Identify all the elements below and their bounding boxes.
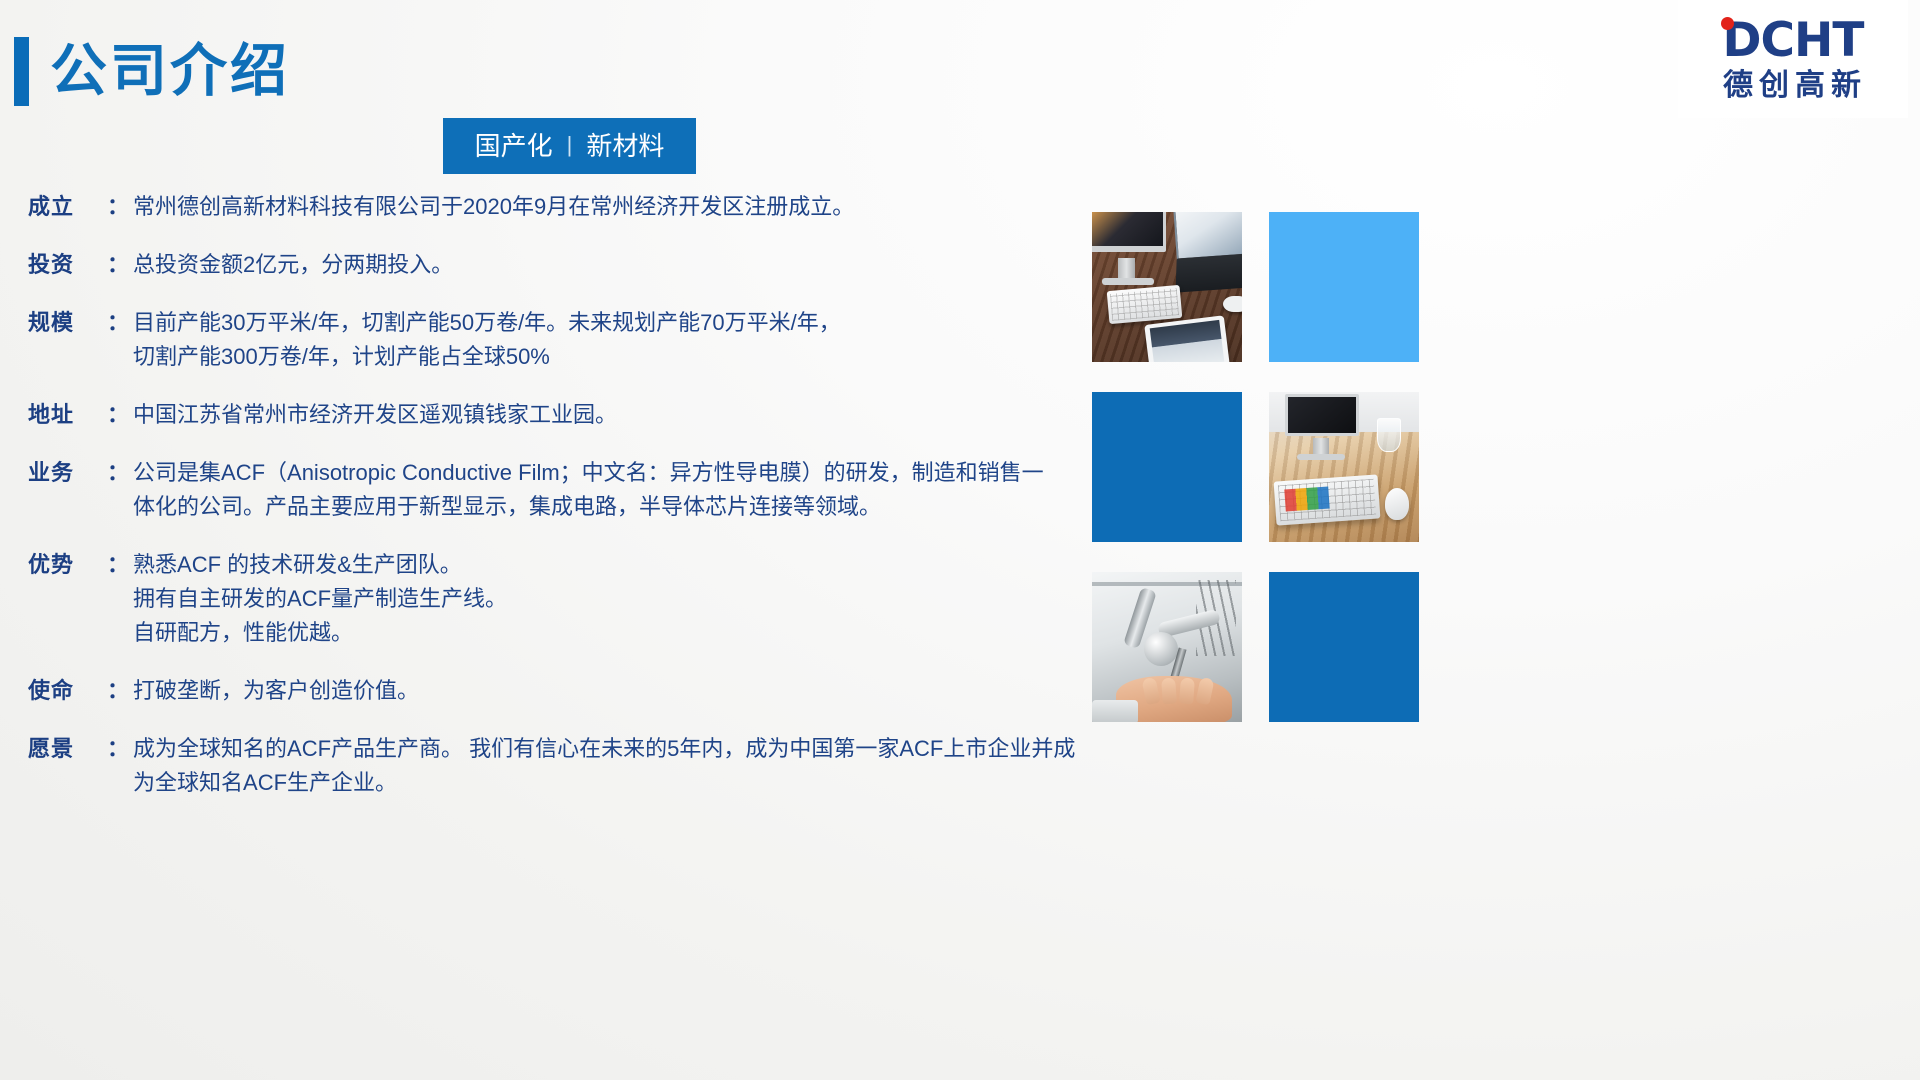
- tagline-left: 国产化: [475, 131, 553, 161]
- page-title: 公司介绍: [50, 36, 290, 106]
- light-blue-block: [1269, 212, 1419, 362]
- info-row: 规模：目前产能30万平米/年，切割产能50万卷/年。未来规划产能70万平米/年，…: [28, 306, 1098, 374]
- wireless-keyboard: [1107, 285, 1183, 324]
- tagline-banner: 国产化 | 新材料: [443, 118, 696, 174]
- info-row-colon: ：: [106, 306, 133, 339]
- logo-wordmark-text: DCHT: [1723, 13, 1864, 68]
- info-row-line: 熟悉ACF 的技术研发&生产团队。: [133, 548, 1098, 582]
- info-row-line: 体化的公司。产品主要应用于新型显示，集成电路，半导体芯片连接等领域。: [133, 490, 1098, 524]
- imac-base: [1102, 278, 1154, 285]
- info-row-label: 业务: [28, 456, 106, 489]
- imac-base: [1297, 454, 1345, 460]
- info-row: 愿景：成为全球知名的ACF产品生产商。 我们有信心在未来的5年内，成为中国第一家…: [28, 732, 1098, 800]
- info-row-body: 中国江苏省常州市经济开发区遥观镇钱家工业园。: [133, 398, 1098, 432]
- info-row-label: 成立: [28, 190, 106, 223]
- info-row-label: 使命: [28, 674, 106, 707]
- hand-finger: [1161, 678, 1177, 705]
- company-logo: DCHT 德创高新: [1678, 0, 1908, 118]
- photo-robot-arm-hand: [1092, 572, 1242, 722]
- info-row-body: 公司是集ACF（Anisotropic Conductive Film；中文名：…: [133, 456, 1098, 524]
- info-row-line: 中国江苏省常州市经济开发区遥观镇钱家工业园。: [133, 398, 1098, 432]
- info-row-colon: ：: [106, 190, 133, 223]
- info-row: 优势：熟悉ACF 的技术研发&生产团队。拥有自主研发的ACF量产制造生产线。自研…: [28, 548, 1098, 650]
- info-row-line: 拥有自主研发的ACF量产制造生产线。: [133, 582, 1098, 616]
- laptop-screen: [1173, 212, 1242, 261]
- robot-joint: [1144, 632, 1178, 666]
- info-row: 成立：常州德创高新材料科技有限公司于2020年9月在常州经济开发区注册成立。: [28, 190, 1098, 224]
- arm-sleeve: [1092, 700, 1138, 722]
- logo-wordmark: DCHT: [1723, 15, 1864, 67]
- photo-desk-imac-laptop-tablet: [1092, 212, 1242, 362]
- info-row: 投资：总投资金额2亿元，分两期投入。: [28, 248, 1098, 282]
- imac-stand: [1118, 258, 1135, 280]
- tagline-right: 新材料: [586, 131, 664, 161]
- info-row-line: 成为全球知名的ACF产品生产商。 我们有信心在未来的5年内，成为中国第一家ACF…: [133, 732, 1098, 766]
- info-row-colon: ：: [106, 732, 133, 765]
- info-row-label: 地址: [28, 398, 106, 431]
- info-row-line: 为全球知名ACF生产企业。: [133, 766, 1098, 800]
- tagline-separator: |: [567, 131, 573, 159]
- imac-screen: [1092, 212, 1166, 252]
- info-row-colon: ：: [106, 548, 133, 581]
- info-row-colon: ：: [106, 456, 133, 489]
- info-row-line: 公司是集ACF（Anisotropic Conductive Film；中文名：…: [133, 456, 1098, 490]
- info-row: 地址：中国江苏省常州市经济开发区遥观镇钱家工业园。: [28, 398, 1098, 432]
- info-row-label: 投资: [28, 248, 106, 281]
- imac-screen: [1285, 394, 1359, 436]
- logo-red-dot-icon: [1721, 17, 1734, 30]
- laptop-keyboard: [1175, 253, 1242, 292]
- image-grid: [1092, 212, 1422, 722]
- info-row-line: 打破垄断，为客户创造价值。: [133, 674, 1098, 708]
- computer-mouse: [1385, 488, 1409, 520]
- info-row-body: 熟悉ACF 的技术研发&生产团队。拥有自主研发的ACF量产制造生产线。自研配方，…: [133, 548, 1098, 650]
- info-row-body: 目前产能30万平米/年，切割产能50万卷/年。未来规划产能70万平米/年，切割产…: [133, 306, 1098, 374]
- colored-keycaps: [1284, 486, 1329, 511]
- info-row-label: 愿景: [28, 732, 106, 765]
- logo-chinese-name: 德创高新: [1723, 68, 1867, 104]
- drinking-glass: [1377, 418, 1401, 452]
- blue-block: [1269, 572, 1419, 722]
- title-accent-bar: [14, 37, 29, 106]
- photo-desk-imac-keyboard: [1269, 392, 1419, 542]
- info-row-colon: ：: [106, 674, 133, 707]
- info-row-colon: ：: [106, 398, 133, 431]
- info-row-line: 自研配方，性能优越。: [133, 616, 1098, 650]
- info-list: 成立：常州德创高新材料科技有限公司于2020年9月在常州经济开发区注册成立。投资…: [28, 190, 1098, 824]
- info-row-body: 常州德创高新材料科技有限公司于2020年9月在常州经济开发区注册成立。: [133, 190, 1098, 224]
- info-row: 使命：打破垄断，为客户创造价值。: [28, 674, 1098, 708]
- info-row-line: 常州德创高新材料科技有限公司于2020年9月在常州经济开发区注册成立。: [133, 190, 1098, 224]
- info-row-label: 优势: [28, 548, 106, 581]
- info-row-line: 总投资金额2亿元，分两期投入。: [133, 248, 1098, 282]
- computer-mouse: [1223, 296, 1242, 312]
- info-row-body: 总投资金额2亿元，分两期投入。: [133, 248, 1098, 282]
- info-row-line: 切割产能300万卷/年，计划产能占全球50%: [133, 340, 1098, 374]
- info-row-colon: ：: [106, 248, 133, 281]
- hand-finger: [1179, 678, 1195, 705]
- info-row-line: 目前产能30万平米/年，切割产能50万卷/年。未来规划产能70万平米/年，: [133, 306, 1098, 340]
- info-row-body: 成为全球知名的ACF产品生产商。 我们有信心在未来的5年内，成为中国第一家ACF…: [133, 732, 1098, 800]
- info-row: 业务：公司是集ACF（Anisotropic Conductive Film；中…: [28, 456, 1098, 524]
- info-row-label: 规模: [28, 306, 106, 339]
- info-row-body: 打破垄断，为客户创造价值。: [133, 674, 1098, 708]
- blue-block: [1092, 392, 1242, 542]
